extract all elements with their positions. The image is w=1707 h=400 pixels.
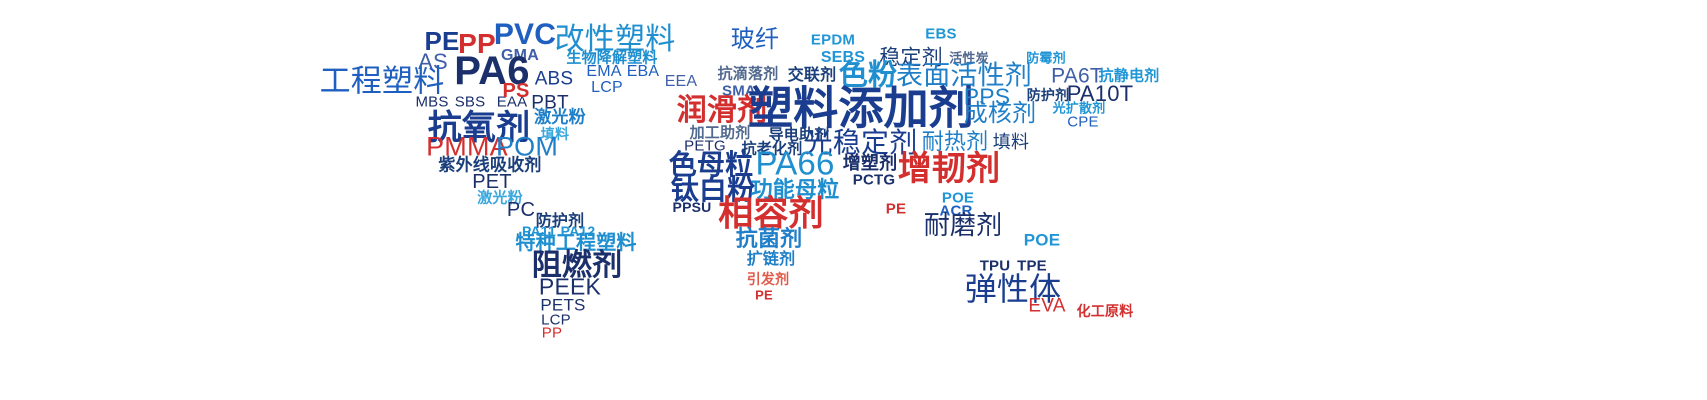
word-cloud-canvas: PEPPPVCGMA改性塑料玻纤EPDMEBSASPA6生物降解塑料SEBS稳定…: [0, 0, 1707, 400]
cloud-word[interactable]: 玻纤: [731, 28, 779, 52]
cloud-word[interactable]: EBA: [627, 64, 660, 80]
cloud-word[interactable]: PP: [542, 326, 562, 341]
cloud-word[interactable]: 激光粉: [534, 109, 586, 126]
cloud-word[interactable]: MBS: [415, 95, 448, 110]
cloud-word[interactable]: 引发剂: [747, 272, 790, 286]
cloud-word[interactable]: LCP: [591, 80, 623, 96]
cloud-word[interactable]: EVA: [1028, 297, 1065, 316]
cloud-word[interactable]: PPSU: [673, 200, 712, 214]
cloud-word[interactable]: 化工原料: [1077, 304, 1134, 318]
cloud-word[interactable]: PVC: [494, 20, 556, 50]
cloud-word[interactable]: PC: [507, 200, 535, 220]
cloud-word[interactable]: PCTG: [853, 173, 895, 188]
cloud-word[interactable]: POE: [1024, 232, 1061, 249]
cloud-word[interactable]: 抗滴落剂: [718, 67, 779, 82]
cloud-word[interactable]: 耐磨剂: [924, 212, 1003, 238]
cloud-word[interactable]: EPDM: [811, 33, 855, 48]
cloud-word[interactable]: 增塑剂: [843, 154, 898, 172]
cloud-word[interactable]: 扩链剂: [747, 252, 796, 268]
cloud-word[interactable]: 填料: [993, 133, 1029, 151]
cloud-word[interactable]: PE: [755, 289, 773, 302]
cloud-word[interactable]: 成核剂: [964, 102, 1037, 126]
cloud-word[interactable]: 塑料添加剂: [748, 86, 974, 131]
cloud-word[interactable]: PE: [886, 202, 906, 217]
cloud-word[interactable]: 增韧剂: [898, 152, 1001, 186]
cloud-word[interactable]: ABS: [535, 70, 574, 89]
cloud-word[interactable]: EMA: [586, 64, 621, 80]
cloud-word[interactable]: PA66: [755, 147, 834, 180]
cloud-word[interactable]: PS: [502, 81, 529, 101]
cloud-word[interactable]: CPE: [1067, 115, 1098, 130]
cloud-word[interactable]: 防霉剂: [1026, 52, 1066, 65]
cloud-word[interactable]: EBS: [925, 27, 956, 42]
cloud-word[interactable]: 工程塑料: [320, 66, 445, 97]
cloud-word[interactable]: SBS: [455, 95, 486, 110]
cloud-word[interactable]: EEA: [665, 74, 698, 90]
cloud-word[interactable]: 抗菌剂: [736, 228, 803, 250]
